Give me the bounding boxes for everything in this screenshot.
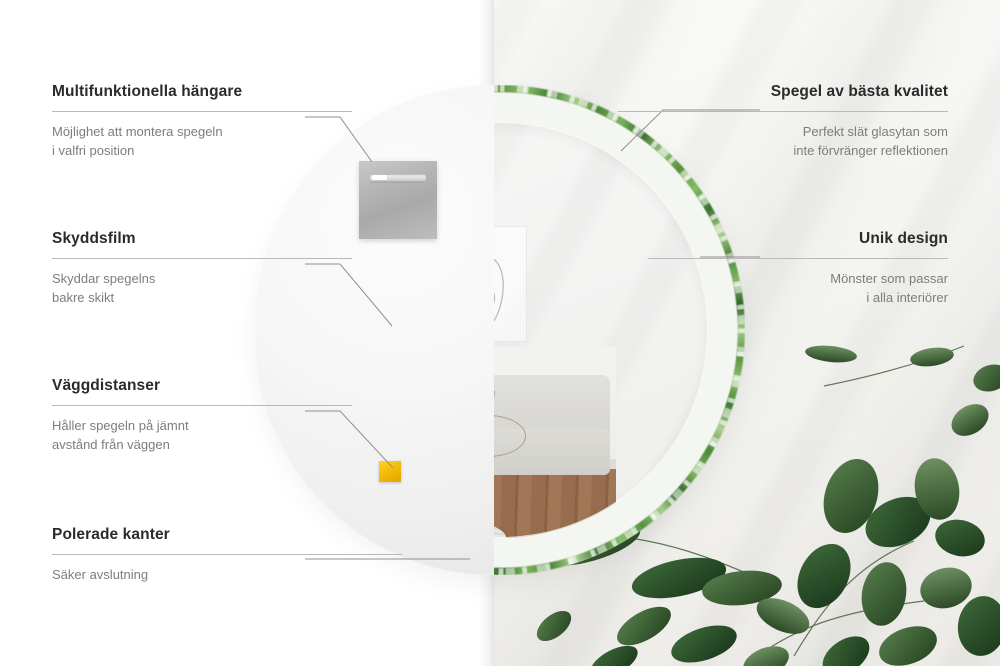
wall-spacer bbox=[379, 461, 401, 482]
callout-divider bbox=[52, 405, 352, 406]
callout-divider bbox=[618, 111, 948, 112]
callout-title: Polerade kanter bbox=[52, 526, 402, 545]
callout-title: Multifunktionella hängare bbox=[52, 83, 352, 102]
desc-line-2: avstånd från väggen bbox=[52, 437, 170, 452]
line-art-face-icon bbox=[494, 227, 526, 341]
callout-description: Håller spegeln på jämnt avstånd från väg… bbox=[52, 417, 352, 455]
desc-line-1: Mönster som passar bbox=[830, 271, 948, 286]
desc-line-1: Möjlighet att montera spegeln bbox=[52, 124, 223, 139]
desc-line-2: i alla interiörer bbox=[866, 290, 948, 305]
desc-line-1: Säker avslutning bbox=[52, 567, 148, 582]
callout-divider bbox=[52, 258, 352, 259]
reflected-sofa bbox=[494, 375, 610, 474]
callout-title: Väggdistanser bbox=[52, 377, 352, 396]
callout-divider bbox=[52, 554, 402, 555]
callout-multifunktionella-hangare: Multifunktionella hängare Möjlighet att … bbox=[52, 83, 352, 161]
callout-title: Spegel av bästa kvalitet bbox=[618, 83, 948, 102]
hanger-slot bbox=[370, 174, 426, 183]
infographic-canvas: Multifunktionella hängare Möjlighet att … bbox=[0, 0, 1000, 666]
callout-description: Skyddar spegelns bakre skikt bbox=[52, 270, 352, 308]
callout-title: Skyddsfilm bbox=[52, 230, 352, 249]
callout-description: Perfekt slät glasytan som inte förvränge… bbox=[618, 123, 948, 161]
callout-unik-design: Unik design Mönster som passar i alla in… bbox=[648, 230, 948, 308]
callout-divider bbox=[52, 111, 352, 112]
reflected-floor bbox=[494, 469, 616, 538]
callout-description: Mönster som passar i alla interiörer bbox=[648, 270, 948, 308]
desc-line-1: Perfekt slät glasytan som bbox=[803, 124, 948, 139]
callout-title: Unik design bbox=[648, 230, 948, 249]
callout-vaggdistanser: Väggdistanser Håller spegeln på jämnt av… bbox=[52, 377, 352, 455]
callout-divider bbox=[648, 258, 948, 259]
callout-description: Säker avslutning bbox=[52, 566, 402, 585]
callout-skyddsfilm: Skyddsfilm Skyddar spegelns bakre skikt bbox=[52, 230, 352, 308]
desc-line-2: bakre skikt bbox=[52, 290, 114, 305]
reflected-poster bbox=[494, 226, 527, 342]
desc-line-2: inte förvränger reflektionen bbox=[793, 143, 948, 158]
reflected-room bbox=[494, 347, 616, 538]
callout-spegel-av-basta-kvalitet: Spegel av bästa kvalitet Perfekt slät gl… bbox=[618, 83, 948, 161]
hanger-plate bbox=[359, 161, 437, 239]
callout-description: Möjlighet att montera spegeln i valfri p… bbox=[52, 123, 352, 161]
mirror-glass bbox=[494, 122, 708, 538]
desc-line-2: i valfri position bbox=[52, 143, 134, 158]
desc-line-1: Håller spegeln på jämnt bbox=[52, 418, 189, 433]
callout-polerade-kanter: Polerade kanter Säker avslutning bbox=[52, 526, 402, 585]
desc-line-1: Skyddar spegelns bbox=[52, 271, 155, 286]
